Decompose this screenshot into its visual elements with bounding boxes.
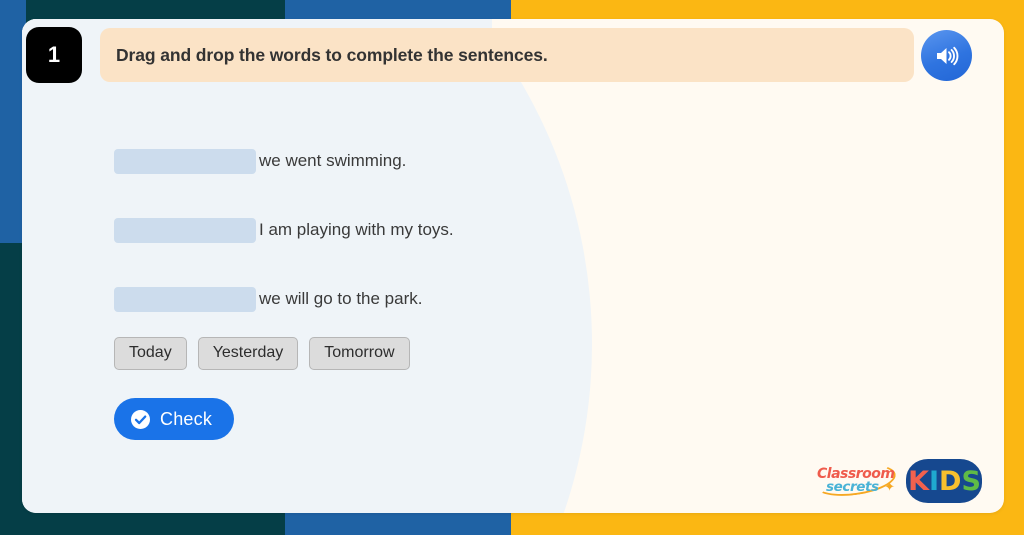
kids-logo-d: D (939, 466, 960, 497)
instruction-banner: Drag and drop the words to complete the … (100, 28, 914, 82)
sentence-row: we went swimming. (114, 147, 454, 175)
sentence-text-3: we will go to the park. (259, 289, 422, 309)
kids-logo-s: S (961, 466, 979, 497)
question-number-badge: 1 (26, 27, 82, 83)
question-number-label: 1 (48, 42, 60, 68)
draggable-word-today[interactable]: Today (114, 337, 187, 370)
drop-zone-1[interactable] (114, 149, 256, 174)
classroom-secrets-logo: Classroom secrets ✦ (814, 464, 896, 498)
speaker-icon (934, 44, 960, 68)
kids-logo-i: I (929, 466, 938, 497)
check-button-label: Check (160, 409, 212, 430)
check-circle-icon (131, 410, 150, 429)
classroom-secrets-line2: secrets (826, 479, 879, 495)
draggable-word-yesterday[interactable]: Yesterday (198, 337, 299, 370)
activity-card: 1 Drag and drop the words to complete th… (22, 19, 1004, 513)
draggable-word-tomorrow[interactable]: Tomorrow (309, 337, 409, 370)
audio-play-button[interactable] (921, 30, 972, 81)
kids-logo: K I D S (906, 459, 982, 503)
instruction-text: Drag and drop the words to complete the … (116, 45, 548, 66)
check-button[interactable]: Check (114, 398, 234, 440)
kids-logo-k: K (908, 466, 928, 497)
drop-zone-3[interactable] (114, 287, 256, 312)
drop-zone-2[interactable] (114, 218, 256, 243)
logo-group: Classroom secrets ✦ K I D S (814, 459, 982, 503)
lesson-screen: 1 Drag and drop the words to complete th… (0, 0, 1024, 535)
star-icon: ✦ (884, 481, 895, 494)
word-bank: Today Yesterday Tomorrow (114, 337, 410, 370)
sentence-text-2: I am playing with my toys. (259, 220, 454, 240)
activity-header: 1 Drag and drop the words to complete th… (22, 19, 1004, 111)
sentence-row: we will go to the park. (114, 285, 454, 313)
sentence-row: I am playing with my toys. (114, 216, 454, 244)
sentence-text-1: we went swimming. (259, 151, 406, 171)
sentence-list: we went swimming. I am playing with my t… (114, 147, 454, 354)
